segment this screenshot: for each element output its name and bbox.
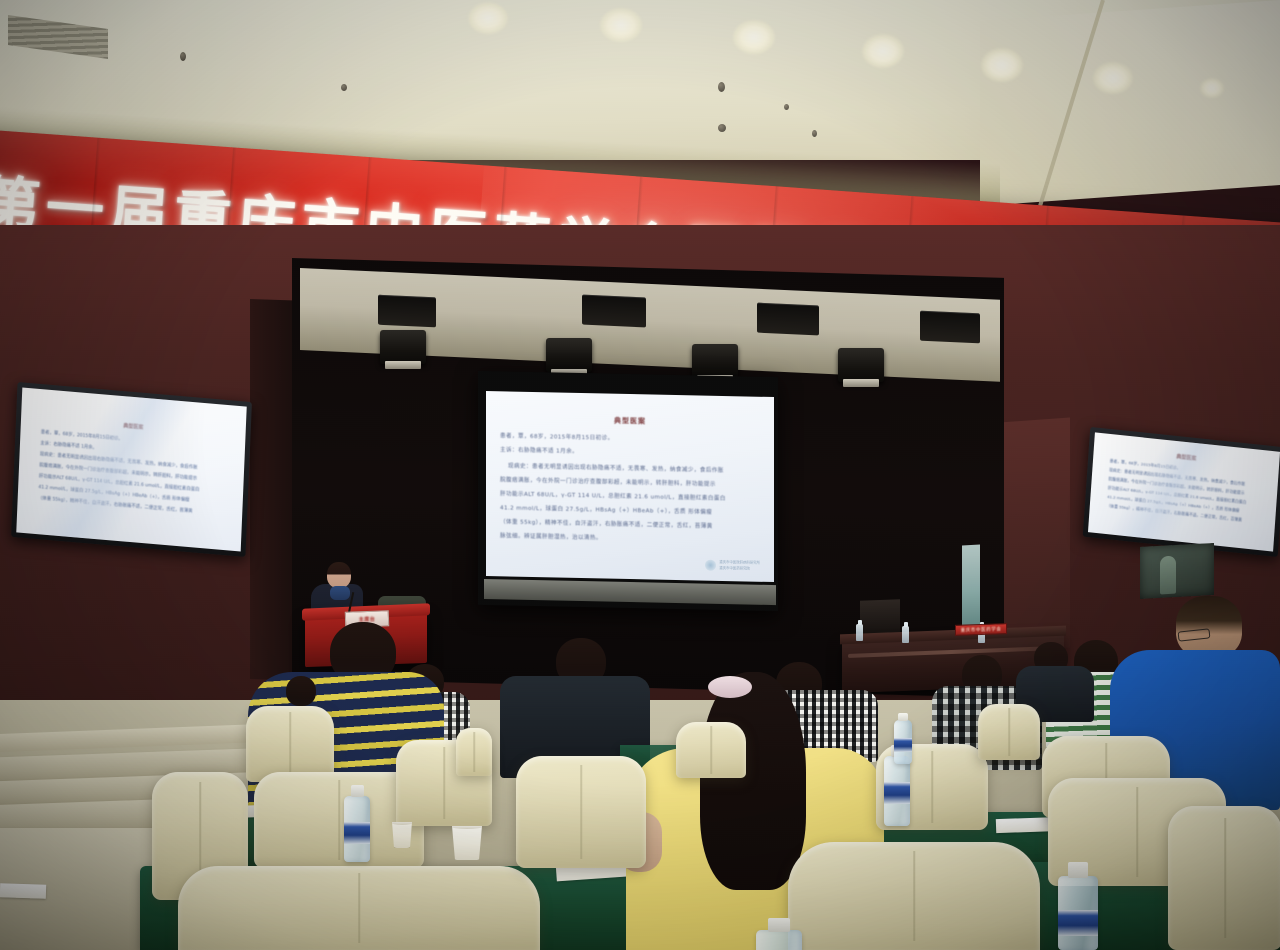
wall-tv-left: 典型医案 患者，覃，68岁，2015年8月15日初诊。 主诉：右胁隐痛不适 1月… [11, 382, 252, 557]
bottle-cap [351, 785, 364, 797]
bottle-cap [1068, 862, 1088, 878]
chair [978, 704, 1040, 760]
truss-slot [757, 303, 819, 336]
window-figure [1160, 556, 1176, 595]
chair [516, 756, 646, 868]
presenter-scarf [330, 586, 350, 600]
slide-line: 患者，覃，68岁，2015年8月15日初诊。 [500, 431, 614, 441]
bottle-label [884, 782, 910, 804]
slide-line: 脉弦细。辨证属肝胆湿热，治以清热。 [500, 531, 602, 541]
screen-bottom-bar [484, 579, 776, 605]
slide-line: 脘腹痞满胀，今在外院一门诊治疗查腹部彩超，未能明示，转肝胆科，肝功能提示 [500, 475, 716, 488]
chair [1168, 806, 1280, 950]
ceiling-sensor-icon [180, 52, 186, 61]
nameplate: 重庆市中医药学会 [955, 623, 1007, 636]
truss-slot [920, 311, 980, 344]
ceiling-sensor-icon [718, 82, 725, 92]
bottle-label [344, 822, 370, 844]
truss-slot [378, 295, 436, 328]
stage-spotlight-icon [546, 338, 592, 372]
paper-cup [392, 822, 412, 848]
water-bottle [884, 756, 910, 826]
slide-logo-mark-icon [705, 560, 716, 571]
attendee-yellow-dress-hair [700, 672, 806, 890]
downlight-icon [468, 2, 508, 34]
slide-title: 典型医案 [486, 413, 774, 429]
water-bottle [856, 624, 863, 641]
slide-line: 主诉：右胁隐痛不适 1月余。 [500, 445, 578, 455]
water-bottle [894, 720, 912, 764]
slide-line: 肝功能示ALT 68U/L，γ-GT 114 U/L，总胆红素 21.6 umo… [500, 489, 726, 502]
ceiling-sensor-icon [341, 84, 347, 91]
tv-slide-line: 患者，覃，68岁，2015年8月15日初诊。 [41, 429, 123, 442]
ceiling-right-panel [980, 0, 1280, 206]
stage-spotlight-icon [692, 344, 738, 378]
attendee-head [286, 676, 316, 706]
stage-spotlight-icon [380, 330, 426, 364]
slide-line: 41.2 mmol/L，球蛋白 27.5g/L，HBsAg（+）HBeAb（+）… [500, 503, 712, 515]
control-room-window [1140, 543, 1214, 599]
truss-slot [582, 295, 646, 328]
wall-tv-right-screen: 典型医案 患者，覃，68岁，2015年8月15日初诊。 现病史：患者无明显诱因出… [1088, 432, 1280, 551]
downlight-icon [1093, 62, 1133, 94]
projection-screen: 典型医案 患者，覃，68岁，2015年8月15日初诊。 主诉：右胁隐痛不适 1月… [478, 371, 778, 611]
downlight-icon [600, 8, 642, 42]
nameplate-text: 重庆市中医药学会 [961, 626, 1002, 633]
projection-screen-surface: 典型医案 患者，覃，68岁，2015年8月15日初诊。 主诉：右胁隐痛不适 1月… [486, 391, 774, 582]
water-bottle [1058, 876, 1098, 950]
conference-hall-photo: 第一届重庆市中医药学会肝胆病专业委员会成立暨国家继续教育项 典型医案 患者，覃，… [0, 0, 1280, 950]
bottle-cap [768, 918, 790, 932]
hair-tie-icon [708, 676, 752, 698]
slide-line: 现病史：患者无明显诱因出现右胁隐痛不适，无畏寒、发热，纳食减少，食后作胀 [508, 461, 724, 474]
ceiling-sensor-icon [784, 104, 789, 110]
bottle-cap [898, 713, 908, 721]
wall-tv-left-screen: 典型医案 患者，覃，68岁，2015年8月15日初诊。 主诉：右胁隐痛不适 1月… [16, 387, 246, 551]
av-equipment [860, 599, 900, 634]
slide-logo: 重庆市中医院肝病科研究所 重庆市中医药研究院 [705, 560, 760, 572]
slide-logo-line: 重庆市中医药研究院 [719, 565, 760, 571]
chair [246, 706, 334, 782]
lit-doorway [962, 545, 980, 630]
downlight-icon [733, 20, 775, 54]
wall-panel-right [1000, 418, 1070, 653]
handout-paper [0, 883, 46, 899]
chair [456, 728, 492, 776]
tv-slide-title: 典型医案 [1094, 444, 1280, 470]
water-bottle [344, 796, 370, 862]
downlight-icon [1200, 78, 1224, 98]
chair [788, 842, 1040, 950]
chair [676, 722, 746, 778]
wall-tv-right: 典型医案 患者，覃，68岁，2015年8月15日初诊。 现病史：患者无明显诱因出… [1083, 427, 1280, 557]
bottle-label [1058, 910, 1098, 936]
ceiling-sensor-icon [718, 124, 726, 132]
water-bottle [756, 930, 802, 950]
slide-line: （体重 55kg），精神不佳，自汗盗汗，右胁胀痛不适，二便正常，舌红，苔薄黄 [500, 517, 713, 529]
chair [178, 866, 540, 950]
downlight-icon [981, 48, 1023, 82]
paper-cup [452, 826, 482, 860]
downlight-icon [862, 34, 904, 68]
bottle-label [894, 738, 912, 752]
stage-spotlight-icon [838, 348, 884, 382]
attendee-head [1176, 596, 1242, 658]
water-bottle [902, 626, 909, 643]
presenter-head [327, 562, 351, 588]
tv-slide-line: 主诉：右胁隐痛不适 1月余。 [40, 440, 97, 451]
ceiling-sensor-icon [812, 130, 817, 137]
